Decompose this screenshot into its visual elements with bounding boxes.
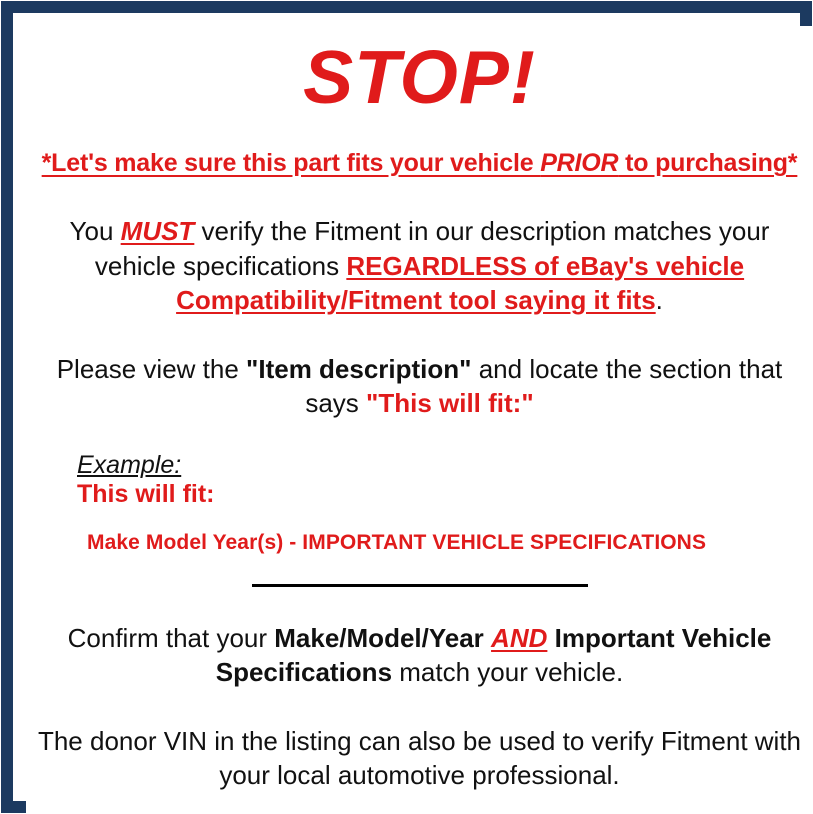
subtitle-banner: *Let's make sure this part fits your veh… [32,149,807,178]
and-keyword: AND [491,623,547,653]
subtitle-emphasis: PRIOR [540,149,618,177]
example-label: Example: [77,451,807,479]
please-lead: Please view the [57,354,246,384]
must-paragraph-period: . [656,285,663,315]
confirm-lead: Confirm that your [68,623,275,653]
must-paragraph-lead: You [70,216,121,246]
example-block: Example: This will fit: Make Model Year(… [32,451,807,555]
horizontal-rule [252,584,588,587]
notice-border-frame: STOP! *Let's make sure this part fits yo… [1,1,812,813]
section-divider-row [32,579,807,593]
notice-content: STOP! *Let's make sure this part fits yo… [26,26,813,814]
example-fit-header: This will fit: [77,480,807,509]
example-spec-line: Make Model Year(s) - IMPORTANT VEHICLE S… [77,531,807,555]
fitment-notice-page: STOP! *Let's make sure this part fits yo… [0,0,813,814]
must-keyword: MUST [121,216,195,246]
confirm-tail: match your vehicle. [392,657,623,687]
confirm-paragraph: Confirm that your Make/Model/Year AND Im… [32,621,807,690]
subtitle-prefix: *Let's make sure this part fits your veh… [42,149,541,177]
item-description-label: "Item description" [246,354,471,384]
please-view-paragraph: Please view the "Item description" and l… [32,352,807,421]
subtitle-suffix: to purchasing* [618,149,797,177]
must-verify-paragraph: You MUST verify the Fitment in our descr… [32,214,807,318]
donor-vin-paragraph: The donor VIN in the listing can also be… [32,724,807,793]
page-title: STOP! [32,40,807,115]
this-will-fit-quote: "This will fit:" [366,388,534,418]
make-model-year-label: Make/Model/Year [274,623,484,653]
